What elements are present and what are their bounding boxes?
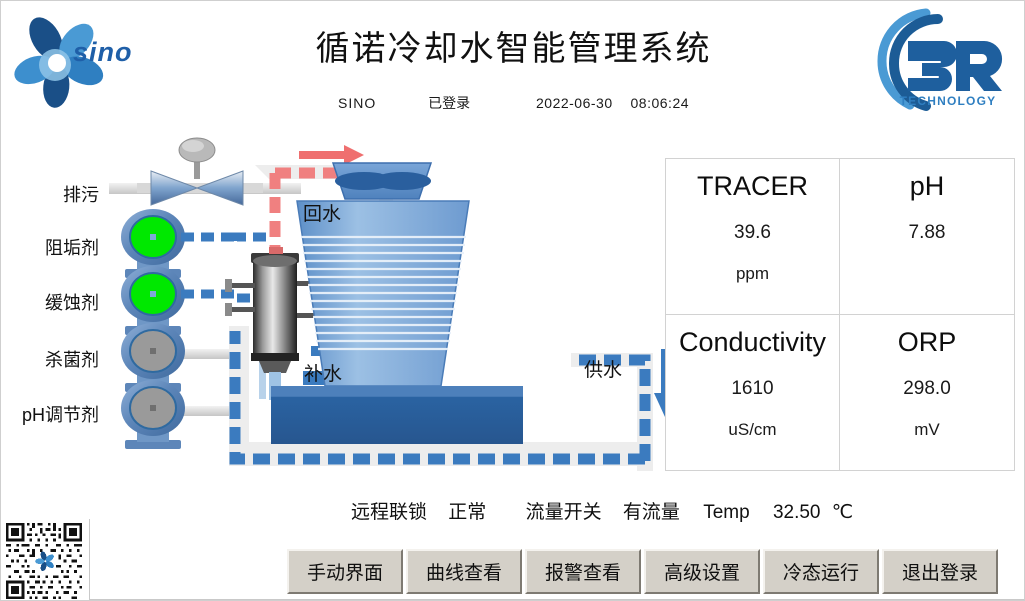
return-flow-arrow-icon — [299, 145, 364, 165]
metric-name: TRACER — [697, 171, 808, 202]
metric-orp: ORP 298.0 mV — [840, 315, 1014, 471]
metric-value: 7.88 — [909, 222, 946, 244]
advanced-settings-button[interactable]: 高级设置 — [644, 549, 760, 594]
metric-name: ORP — [898, 327, 957, 358]
trend-view-button[interactable]: 曲线查看 — [406, 549, 522, 594]
temp-value: 32.50 — [773, 502, 821, 524]
label-supply-water: 供水 — [584, 355, 622, 382]
button-bar: 手动界面 曲线查看 报警查看 高级设置 冷态运行 退出登录 — [287, 549, 998, 594]
system-date: 2022-06-30 — [536, 95, 613, 111]
flow-switch-value: 有流量 — [623, 497, 680, 524]
qr-code — [6, 523, 82, 599]
cooling-water-management-app: sino 循诺冷却水智能管理系统 SINO 已登录 2022-06-30 08:… — [0, 0, 1025, 601]
process-flow-diagram — [101, 141, 671, 486]
metric-value: 39.6 — [734, 222, 771, 244]
tower-fill-louvers — [301, 237, 466, 349]
header: sino 循诺冷却水智能管理系统 SINO 已登录 2022-06-30 08:… — [1, 1, 1025, 123]
sidelabel-blowdown: 排污 — [19, 181, 99, 207]
temp-unit: ℃ — [832, 501, 853, 524]
3r-technology-logo: TECHNOLOGY — [864, 5, 1014, 115]
measurement-panel: TRACER 39.6 ppm pH 7.88 Conductivity 161… — [665, 158, 1015, 471]
remote-interlock-value: 正常 — [448, 497, 486, 524]
metric-value: 298.0 — [903, 378, 951, 400]
dosing-pump-ph-adjuster[interactable] — [121, 380, 185, 449]
status-bar: 远程联锁 正常 流量开关 有流量 Temp 32.50 ℃ — [351, 497, 1011, 529]
cold-start-button[interactable]: 冷态运行 — [763, 549, 879, 594]
metric-unit: mV — [914, 420, 940, 440]
sidelabel-antiscalant: 阻垢剂 — [9, 234, 99, 260]
sidelabel-corrosion-inhibitor: 缓蚀剂 — [9, 289, 99, 315]
sidelabel-biocide: 杀菌剂 — [9, 346, 99, 372]
metric-name: pH — [910, 171, 945, 202]
metric-ph: pH 7.88 — [840, 159, 1014, 315]
svg-text:TECHNOLOGY: TECHNOLOGY — [900, 94, 997, 108]
tower-fan-icon — [335, 172, 431, 190]
metric-unit: uS/cm — [728, 420, 776, 440]
temp-label: Temp — [703, 502, 749, 524]
metric-tracer: TRACER 39.6 ppm — [666, 159, 840, 315]
metric-name: Conductivity — [679, 327, 826, 358]
manual-interface-button[interactable]: 手动界面 — [287, 549, 403, 594]
flow-switch-label: 流量开关 — [526, 497, 602, 524]
system-time: 08:06:24 — [631, 95, 690, 111]
label-return-water: 回水 — [303, 199, 341, 226]
footer-rule — [89, 599, 1025, 600]
login-status: 已登录 — [428, 93, 470, 113]
logout-button[interactable]: 退出登录 — [882, 549, 998, 594]
blowdown-valve-icon[interactable] — [137, 138, 263, 205]
remote-interlock-label: 远程联锁 — [351, 497, 427, 524]
metric-value: 1610 — [731, 378, 773, 400]
label-makeup-water: 补水 — [304, 359, 342, 386]
sidelabel-ph-adjuster: pH调节剂 — [1, 401, 99, 427]
footer-divider — [89, 519, 90, 601]
alarm-view-button[interactable]: 报警查看 — [525, 549, 641, 594]
metric-conductivity: Conductivity 1610 uS/cm — [666, 315, 840, 471]
metric-unit: ppm — [736, 264, 769, 284]
current-user: SINO — [338, 95, 376, 111]
